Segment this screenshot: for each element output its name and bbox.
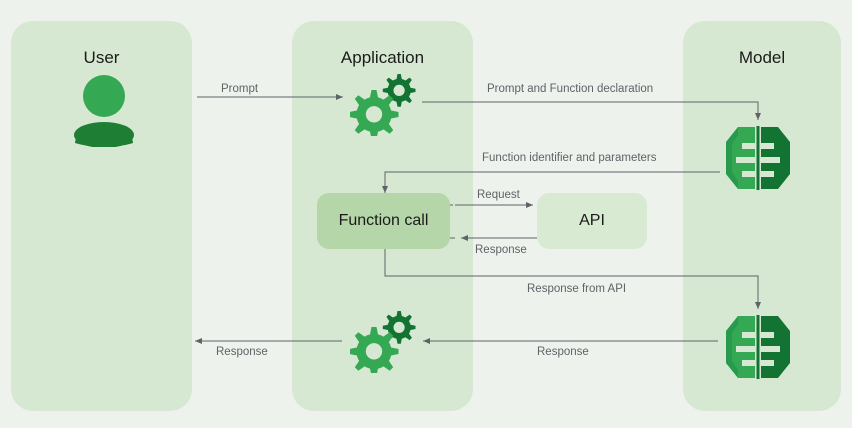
- node-function-call[interactable]: Function call: [317, 193, 450, 249]
- edge-label-function-identifier-and-parameters: Function identifier and parameters: [482, 152, 657, 164]
- node-function-call-label: Function call: [339, 212, 429, 230]
- edge-label-response-api: Response: [475, 244, 527, 256]
- node-api[interactable]: API: [537, 193, 647, 249]
- edge-label-prompt: Prompt: [221, 83, 258, 95]
- gears-icon: [350, 307, 420, 378]
- node-api-label: API: [579, 212, 605, 230]
- edge-label-response-model: Response: [537, 346, 589, 358]
- edge-function-identifier-and-parameters: [385, 172, 720, 193]
- user-icon: [73, 75, 135, 152]
- edge-label-response-user: Response: [216, 346, 268, 358]
- edge-label-prompt-and-function-declaration: Prompt and Function declaration: [487, 83, 653, 95]
- edge-prompt-and-function-declaration: [422, 102, 758, 120]
- diagram-canvas: User Application Model: [0, 0, 852, 428]
- edge-label-request: Request: [477, 189, 520, 201]
- brain-icon: [722, 124, 794, 197]
- brain-icon: [722, 313, 794, 386]
- gears-icon: [350, 70, 420, 141]
- edge-label-response-from-api: Response from API: [527, 283, 626, 295]
